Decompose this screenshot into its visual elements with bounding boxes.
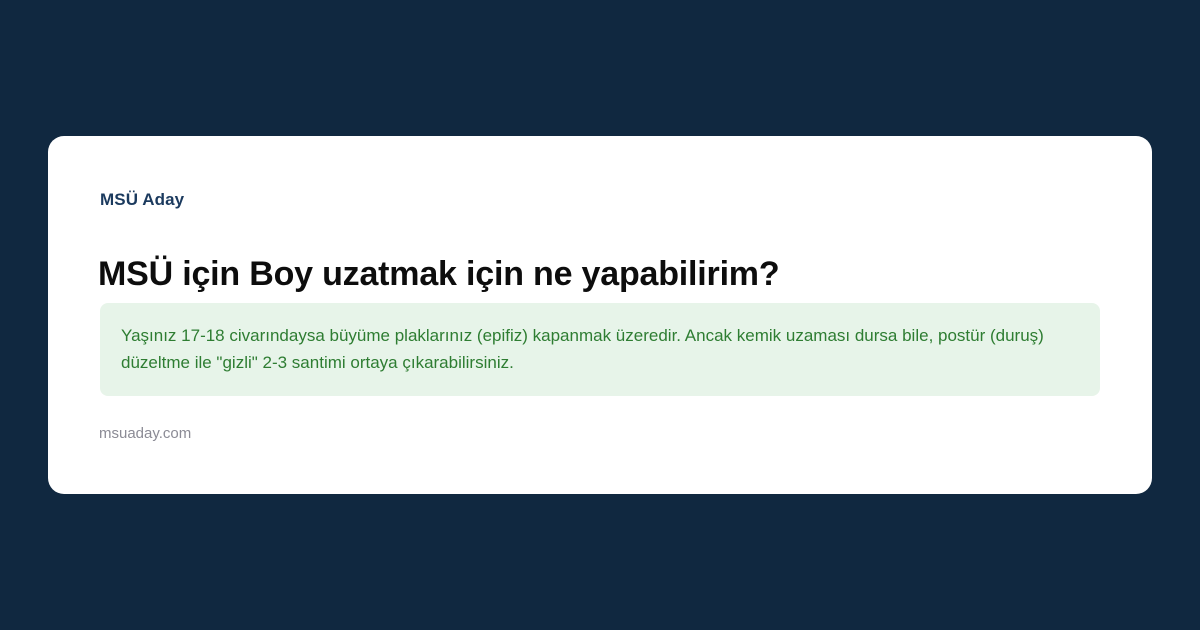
site-name-label: MSÜ Aday bbox=[100, 189, 184, 211]
og-image-canvas: MSÜ Aday MSÜ için Boy uzatmak için ne ya… bbox=[0, 0, 1200, 630]
answer-callout-box: Yaşınız 17-18 civarındaysa büyüme plakla… bbox=[100, 303, 1100, 396]
answer-text: Yaşınız 17-18 civarındaysa büyüme plakla… bbox=[121, 322, 1078, 376]
footer-site-url: msuaday.com bbox=[99, 424, 191, 444]
page-title: MSÜ için Boy uzatmak için ne yapabilirim… bbox=[98, 253, 1108, 295]
content-card: MSÜ Aday MSÜ için Boy uzatmak için ne ya… bbox=[48, 136, 1152, 494]
